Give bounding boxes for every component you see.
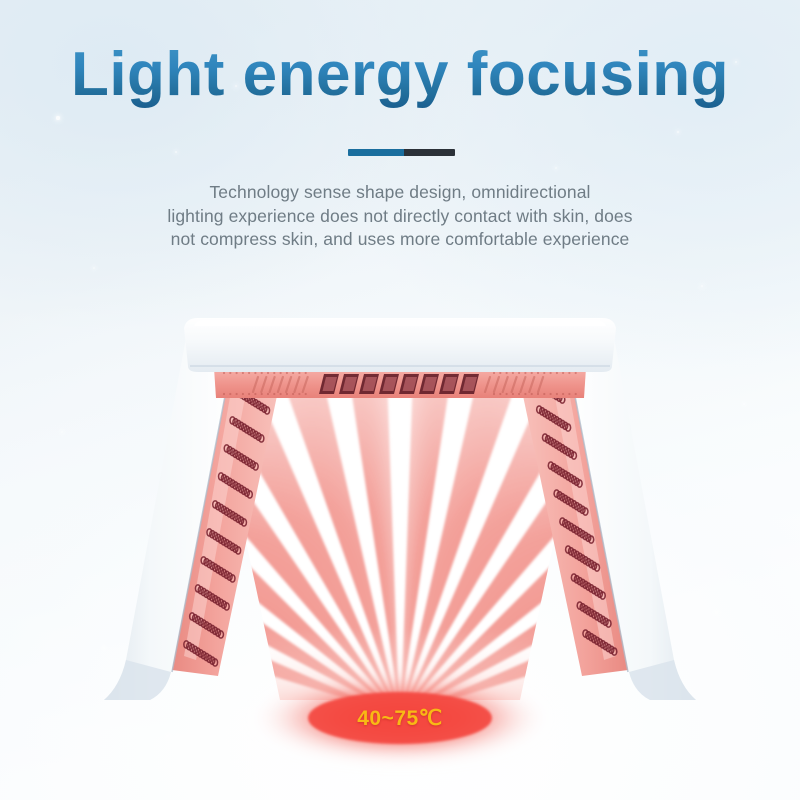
pinhole-dot bbox=[223, 393, 225, 395]
pinhole-dot bbox=[543, 393, 545, 395]
pinhole-dot bbox=[568, 393, 570, 395]
pinhole-dot bbox=[556, 372, 558, 374]
pinhole-dot bbox=[286, 393, 288, 395]
pinhole-dot bbox=[493, 393, 495, 395]
pinhole-dot bbox=[305, 393, 307, 395]
pinhole-dot bbox=[575, 372, 577, 374]
pinhole-dot bbox=[550, 393, 552, 395]
pinhole-dot bbox=[267, 372, 269, 374]
pinhole-dot bbox=[518, 372, 520, 374]
pinhole-dot bbox=[562, 372, 564, 374]
pinhole-dot bbox=[537, 393, 539, 395]
pinhole-dot bbox=[267, 393, 269, 395]
pinhole-dot bbox=[512, 372, 514, 374]
pinhole-dot bbox=[292, 393, 294, 395]
pinhole-dot bbox=[273, 393, 275, 395]
pinhole-dot bbox=[286, 372, 288, 374]
pinhole-dot bbox=[298, 372, 300, 374]
device-svg bbox=[0, 0, 800, 800]
pinhole-dot bbox=[543, 372, 545, 374]
pinhole-dot bbox=[236, 393, 238, 395]
pinhole-dot bbox=[305, 372, 307, 374]
subtitle-line-2: lighting experience does not directly co… bbox=[0, 205, 800, 229]
pinhole-dot bbox=[248, 372, 250, 374]
pinhole-dot bbox=[512, 393, 514, 395]
pinhole-dot bbox=[273, 372, 275, 374]
divider-segment-blue bbox=[348, 149, 404, 156]
top-panel-bevel bbox=[194, 320, 606, 326]
pinhole-dot bbox=[292, 372, 294, 374]
page-title: Light energy focusing bbox=[0, 42, 800, 109]
pinhole-dot bbox=[524, 372, 526, 374]
light-ray-group bbox=[0, 196, 800, 711]
pinhole-dot bbox=[229, 393, 231, 395]
pinhole-dot bbox=[506, 393, 508, 395]
pinhole-dot bbox=[493, 372, 495, 374]
pinhole-dot bbox=[229, 372, 231, 374]
marketing-banner: Light energy focusing Technology sense s… bbox=[0, 0, 800, 800]
pinhole-dot bbox=[575, 393, 577, 395]
pinhole-dot bbox=[280, 372, 282, 374]
pinhole-dot bbox=[223, 372, 225, 374]
subtitle-line-3: not compress skin, and uses more comfort… bbox=[0, 228, 800, 252]
pinhole-dot bbox=[556, 393, 558, 395]
pinhole-dot bbox=[568, 372, 570, 374]
pinhole-dot bbox=[506, 372, 508, 374]
pinhole-dot bbox=[524, 393, 526, 395]
pinhole-dot bbox=[242, 393, 244, 395]
pinhole-dot bbox=[298, 393, 300, 395]
product-illustration bbox=[0, 0, 800, 800]
top-panel-surface bbox=[184, 318, 616, 372]
pinhole-dot bbox=[242, 372, 244, 374]
subtitle-block: Technology sense shape design, omnidirec… bbox=[0, 181, 800, 252]
pinhole-dot bbox=[261, 393, 263, 395]
pinhole-dot bbox=[531, 393, 533, 395]
floor-glow-core bbox=[308, 692, 492, 744]
pinhole-dot bbox=[562, 393, 564, 395]
pinhole-dot bbox=[261, 372, 263, 374]
title-divider bbox=[348, 149, 455, 156]
pinhole-dot bbox=[254, 372, 256, 374]
pinhole-dot bbox=[499, 372, 501, 374]
pinhole-dot bbox=[550, 372, 552, 374]
pinhole-dot bbox=[537, 372, 539, 374]
subtitle-line-1: Technology sense shape design, omnidirec… bbox=[0, 181, 800, 205]
pinhole-dot bbox=[236, 372, 238, 374]
pinhole-dot bbox=[518, 393, 520, 395]
pinhole-dot bbox=[531, 372, 533, 374]
pinhole-dot bbox=[280, 393, 282, 395]
pinhole-dot bbox=[248, 393, 250, 395]
pinhole-dot bbox=[254, 393, 256, 395]
divider-segment-dark bbox=[404, 149, 455, 156]
pinhole-dot bbox=[499, 393, 501, 395]
